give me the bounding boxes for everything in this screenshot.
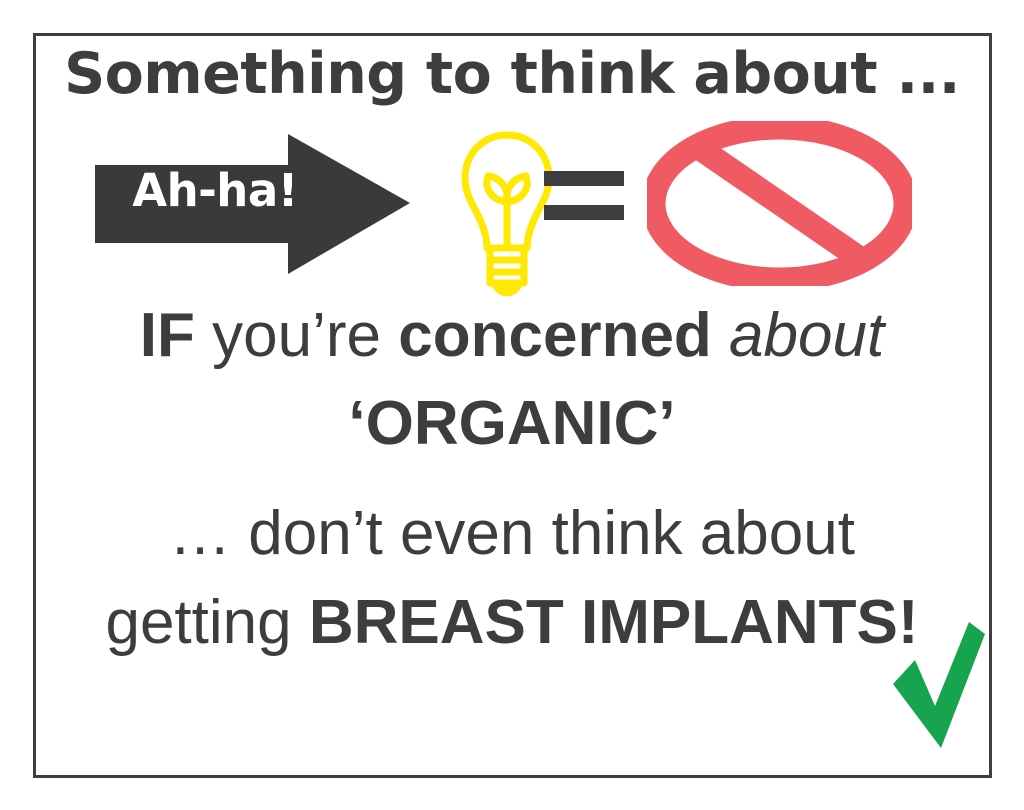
lightbulb-icon (457, 128, 557, 308)
check-mark-icon (891, 620, 987, 765)
message-line-1: IF you’re concerned about (0, 305, 1024, 367)
equals-bar-top (544, 171, 624, 186)
equals-bar-bottom (544, 205, 624, 220)
message-line-4-breast-implants: BREAST IMPLANTS! (309, 588, 919, 657)
message-line-2-organic: ‘ORGANIC’ (0, 393, 1024, 455)
message-line-1-youre: you’re (212, 301, 381, 370)
ah-ha-label: Ah-ha! (115, 165, 315, 217)
message-line-4: getting BREAST IMPLANTS! (0, 592, 1024, 654)
message-line-3: … don’t even think about (0, 503, 1024, 565)
poster-canvas: Something to think about ... Ah-ha! (0, 0, 1024, 810)
equals-sign-icon (544, 171, 634, 241)
message-line-1-about: about (729, 301, 884, 370)
ah-ha-arrow: Ah-ha! (95, 134, 410, 279)
message-line-1-if: IF (140, 301, 195, 370)
message-line-4-getting: getting (105, 588, 291, 657)
lightbulb-leaf-svg (457, 128, 557, 303)
icon-row: Ah-ha! (33, 128, 992, 303)
check-mark-svg (891, 620, 987, 760)
page-title: Something to think about ... (0, 46, 1024, 103)
prohibition-sign-icon (647, 121, 912, 291)
no-entry-svg (647, 121, 912, 286)
message-line-1-concerned: concerned (398, 301, 712, 370)
